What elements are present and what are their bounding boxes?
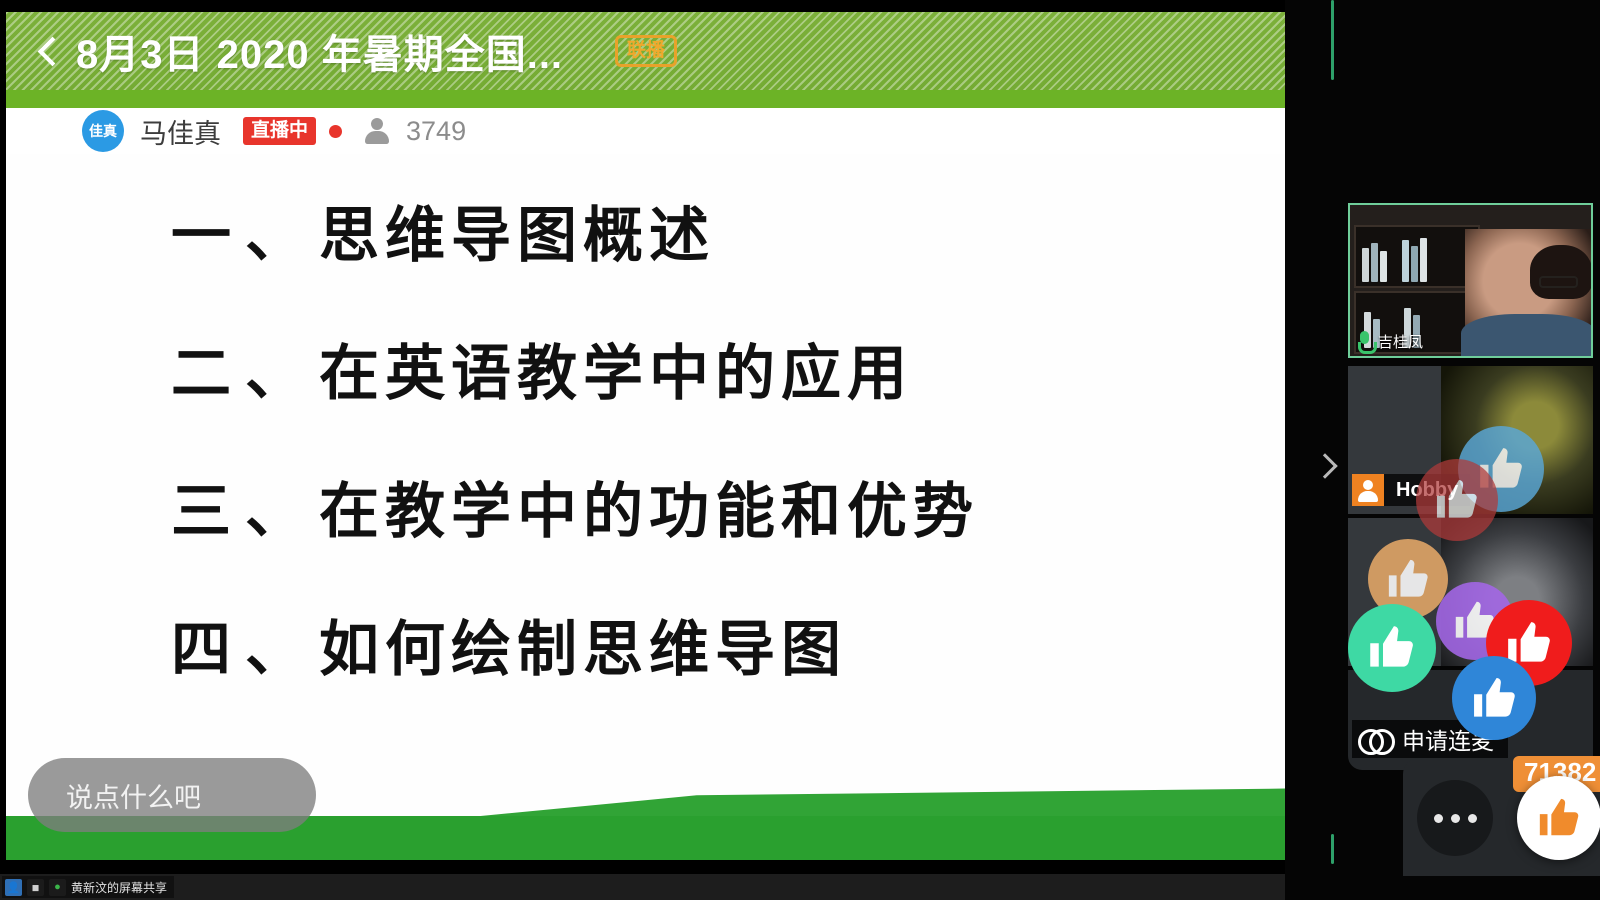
microphone-icon [1356, 331, 1373, 352]
scrollbar-thumb-lower[interactable] [1331, 834, 1334, 864]
video-tile[interactable]: Hobby [1348, 366, 1593, 514]
slide-outline-list: 一、思维导图概述 二、在英语教学中的应用 三、在教学中的功能和优势 四、如何绘制… [171, 206, 1285, 758]
slide-line: 二、在英语教学中的应用 [171, 344, 1285, 404]
page-title: 8月3日 2020 年暑期全国... [76, 22, 563, 80]
bottom-control-dock: 71382 [1403, 758, 1600, 876]
slide-line: 三、在教学中的功能和优势 [171, 482, 1285, 542]
live-stream-screen: 8月3日 2020 年暑期全国... 联播 佳真 马佳真 直播中 3749 一、… [0, 0, 1600, 900]
slide-line-number: 三、 [171, 477, 319, 547]
host-name: 马佳真 [140, 112, 221, 151]
live-dot-icon [329, 125, 342, 138]
more-options-button[interactable] [1417, 780, 1493, 856]
slide-line: 一、思维导图概述 [171, 206, 1285, 266]
host-info-bar: 佳真 马佳真 直播中 3749 [6, 108, 1285, 154]
chevron-right-icon[interactable] [1309, 448, 1339, 484]
video-tile-list: 吉桂凤 Hobby 申请连麦 [1340, 0, 1600, 900]
presentation-slide: 一、思维导图概述 二、在英语教学中的应用 三、在教学中的功能和优势 四、如何绘制… [6, 154, 1285, 860]
slide-line-text: 思维导图概述 [319, 201, 715, 271]
slide-line-number: 一、 [171, 201, 319, 271]
apply-mic-button[interactable]: 申请连麦 [1352, 720, 1508, 758]
tile-name-row: Hobby [1352, 474, 1470, 506]
avatar[interactable]: 佳真 [82, 110, 124, 152]
comment-input[interactable]: 说点什么吧 [28, 758, 316, 832]
microphone-icon: ● [49, 879, 66, 896]
slide-line: 四、如何绘制思维导图 [171, 620, 1285, 680]
ellipsis-icon [1434, 814, 1443, 823]
tile-label: Hobby [1396, 479, 1458, 502]
header-bar: 8月3日 2020 年暑期全国... 联播 [6, 12, 1285, 90]
tile-name-row: 吉桂凤 [1356, 331, 1423, 352]
bookshelf-row [1354, 225, 1480, 288]
viewer-count: 3749 [406, 116, 466, 147]
screen-share-chip[interactable]: 👤 ◾ ● 黄新汶的屏幕共享 [2, 876, 174, 898]
slide-line-number: 四、 [171, 615, 319, 685]
thumbs-up-icon [1536, 795, 1582, 841]
ellipsis-icon [1468, 814, 1477, 823]
slide-line-number: 二、 [171, 339, 319, 409]
ellipsis-icon [1451, 814, 1460, 823]
video-tile-apply-mic[interactable]: 申请连麦 [1348, 670, 1593, 770]
video-tile[interactable] [1348, 518, 1593, 666]
tile-label: 吉桂凤 [1378, 331, 1423, 352]
header-green-band [6, 90, 1285, 108]
video-feed-thumbnail [1441, 518, 1593, 666]
slide-line-text: 如何绘制思维导图 [319, 615, 847, 685]
chevron-left-icon[interactable] [32, 31, 66, 71]
like-button[interactable] [1517, 776, 1600, 860]
apply-mic-label: 申请连麦 [1402, 722, 1494, 756]
slide-line-text: 在教学中的功能和优势 [319, 477, 979, 547]
speaker-hair [1530, 245, 1592, 300]
simulcast-badge: 联播 [615, 35, 677, 67]
camera-icon: ◾ [27, 879, 44, 896]
slide-line-text: 在英语教学中的应用 [319, 339, 913, 409]
user-avatar-icon [1352, 474, 1384, 506]
person-icon [364, 116, 390, 146]
video-tile-speaker[interactable]: 吉桂凤 [1348, 203, 1593, 358]
user-icon: 👤 [5, 879, 22, 896]
status-badge: 直播中 [243, 117, 316, 146]
speaker-shirt [1461, 314, 1593, 358]
link-icon [1358, 725, 1394, 753]
os-taskbar: 👤 ◾ ● 黄新汶的屏幕共享 [0, 874, 1285, 900]
screen-share-label: 黄新汶的屏幕共享 [71, 879, 167, 896]
speaker-glasses [1539, 276, 1578, 288]
shared-screen-stage: 8月3日 2020 年暑期全国... 联播 佳真 马佳真 直播中 3749 一、… [0, 0, 1285, 900]
scrollbar-thumb[interactable] [1331, 0, 1334, 80]
participant-rail: 吉桂凤 Hobby 申请连麦 [1285, 0, 1600, 900]
